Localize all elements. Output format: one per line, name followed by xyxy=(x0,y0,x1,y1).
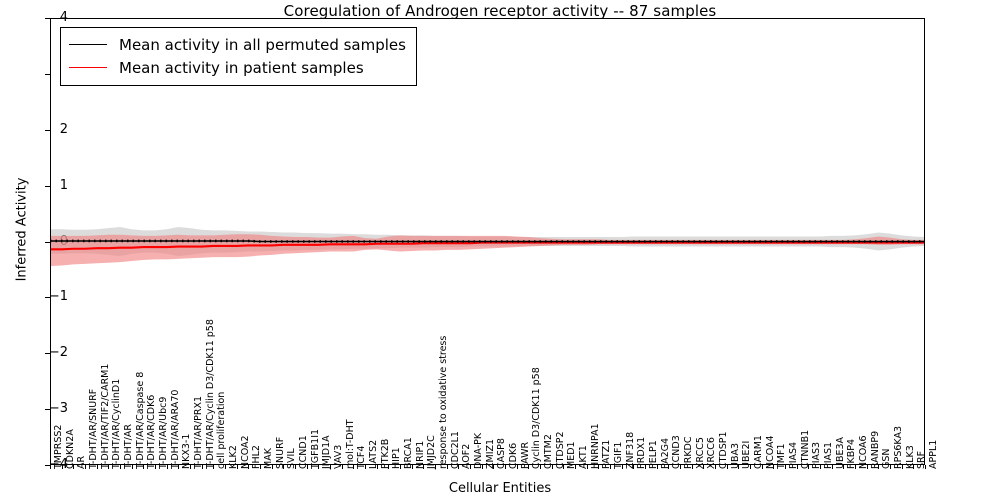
legend-swatch-patient xyxy=(69,67,107,68)
legend-swatch-permuted xyxy=(69,44,107,45)
legend-label-permuted: Mean activity in all permuted samples xyxy=(119,36,406,54)
figure-canvas: Coregulation of Androgen receptor activi… xyxy=(0,0,1000,500)
legend-label-patient: Mean activity in patient samples xyxy=(119,59,364,77)
legend-entry-permuted: Mean activity in all permuted samples xyxy=(69,33,406,56)
chart-legend: Mean activity in all permuted samples Me… xyxy=(60,27,417,86)
legend-entry-patient: Mean activity in patient samples xyxy=(69,56,406,79)
